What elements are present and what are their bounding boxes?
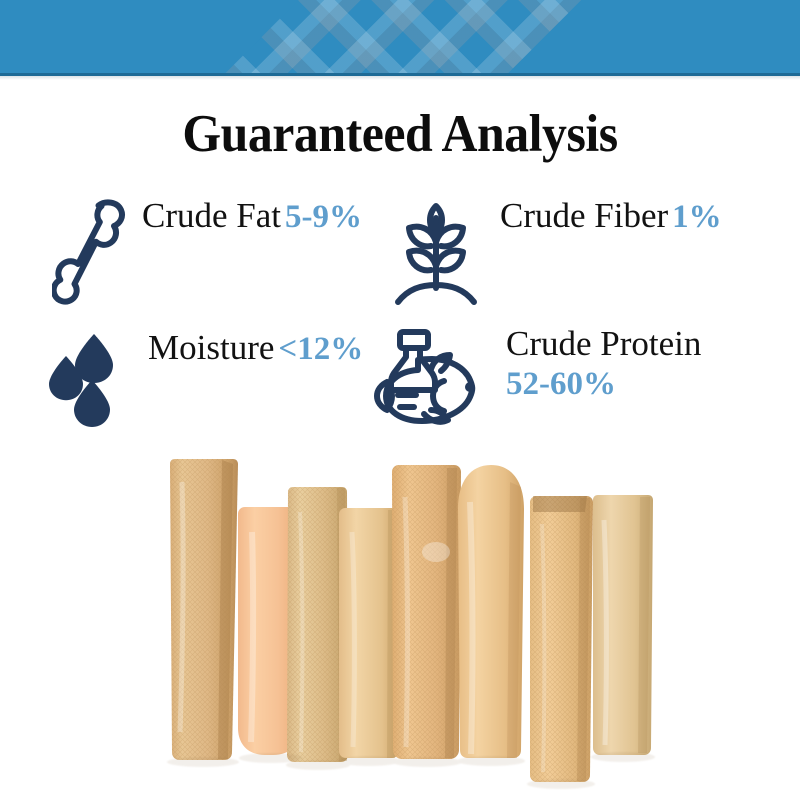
stat-moisture-text: Moisture <12% xyxy=(148,328,363,369)
fish-oil-bottle-icon xyxy=(374,324,496,435)
gingham-pattern xyxy=(4,0,796,76)
stat-crude-protein-text: Crude Protein 52-60% xyxy=(506,324,766,404)
stat-label: Moisture xyxy=(148,328,274,367)
stat-crude-fat-text: Crude Fat 5-9% xyxy=(142,196,362,237)
stat-label: Crude Protein xyxy=(506,324,701,363)
product-photo xyxy=(0,452,800,800)
stat-label: Crude Fiber xyxy=(500,196,668,235)
guaranteed-analysis-infographic: Guaranteed Analysis Crude Fat 5-9% xyxy=(0,0,800,800)
chew-stick xyxy=(593,495,653,755)
chew-stick xyxy=(392,465,461,759)
chew-stick xyxy=(530,496,593,782)
stat-value: <12% xyxy=(278,331,363,367)
stat-value: 5-9% xyxy=(285,199,362,235)
stats-grid: Crude Fat 5-9% xyxy=(34,192,766,442)
header-pattern-band xyxy=(0,0,800,76)
chew-stick xyxy=(339,508,400,758)
stat-crude-protein: Crude Protein 52-60% xyxy=(374,324,766,435)
band-drop-shadow xyxy=(0,76,800,80)
stat-crude-fat: Crude Fat 5-9% xyxy=(52,196,362,313)
bone-icon xyxy=(52,196,128,313)
stat-value: 52-60% xyxy=(506,366,616,402)
stat-crude-fiber: Crude Fiber 1% xyxy=(390,196,722,313)
wheat-icon xyxy=(390,196,482,313)
stat-value: 1% xyxy=(672,199,722,235)
chew-stick xyxy=(170,459,238,760)
page-title: Guaranteed Analysis xyxy=(24,104,776,164)
water-droplets-icon xyxy=(44,328,134,433)
chew-stick xyxy=(458,465,524,758)
stat-crude-fiber-text: Crude Fiber 1% xyxy=(500,196,722,237)
stat-moisture: Moisture <12% xyxy=(44,328,363,433)
chew-stick xyxy=(287,487,348,762)
stat-label: Crude Fat xyxy=(142,196,281,235)
